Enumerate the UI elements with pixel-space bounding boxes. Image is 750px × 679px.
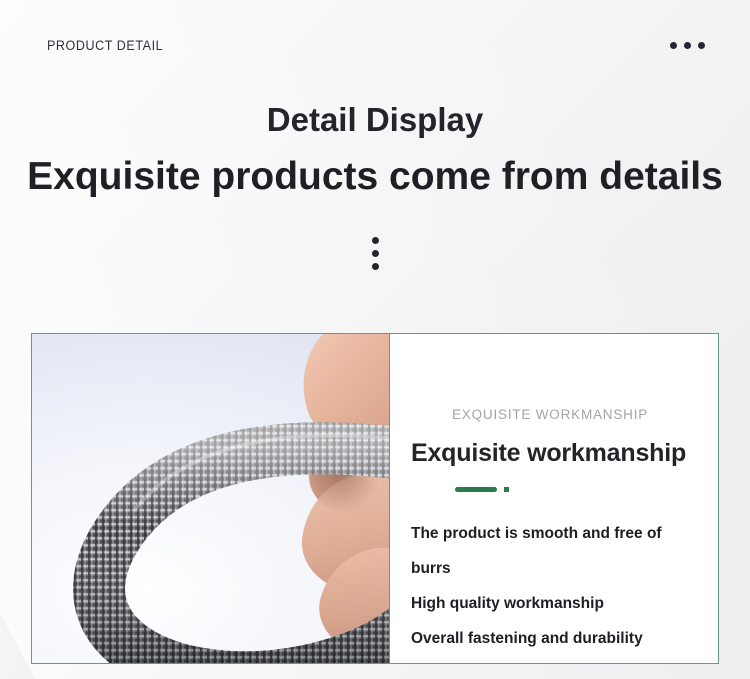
title-block: Detail Display Exquisite products come f…: [0, 98, 750, 201]
detail-text-panel: EXQUISITE WORKMANSHIP Exquisite workmans…: [390, 334, 718, 663]
accent-divider: [455, 487, 509, 492]
header-label: PRODUCT DETAIL: [47, 38, 163, 53]
page-header: PRODUCT DETAIL: [0, 0, 750, 92]
more-horizontal-icon[interactable]: [670, 42, 705, 49]
list-item: Overall fastening and durability: [411, 621, 701, 656]
divider-dot: [504, 487, 509, 492]
detail-card: EXQUISITE WORKMANSHIP Exquisite workmans…: [31, 333, 719, 664]
dot-2: [372, 250, 379, 257]
panel-eyebrow: EXQUISITE WORKMANSHIP: [452, 407, 648, 422]
dot-1: [670, 42, 677, 49]
list-item: The product is smooth and free of burrs: [411, 516, 701, 586]
page-title: Detail Display: [0, 98, 750, 142]
more-vertical-icon: [0, 237, 750, 270]
list-item: High quality workmanship: [411, 586, 701, 621]
product-photo: [32, 334, 390, 663]
panel-title: Exquisite workmanship: [411, 439, 686, 468]
product-detail-page: PRODUCT DETAIL Detail Display Exquisite …: [0, 0, 750, 679]
coiled-spring-illustration: [32, 334, 390, 663]
page-subtitle: Exquisite products come from details: [0, 153, 750, 201]
dot-3: [698, 42, 705, 49]
divider-bar: [455, 487, 497, 492]
dot-2: [684, 42, 691, 49]
dot-3: [372, 263, 379, 270]
feature-list: The product is smooth and free of burrs …: [411, 516, 701, 656]
dot-1: [372, 237, 379, 244]
